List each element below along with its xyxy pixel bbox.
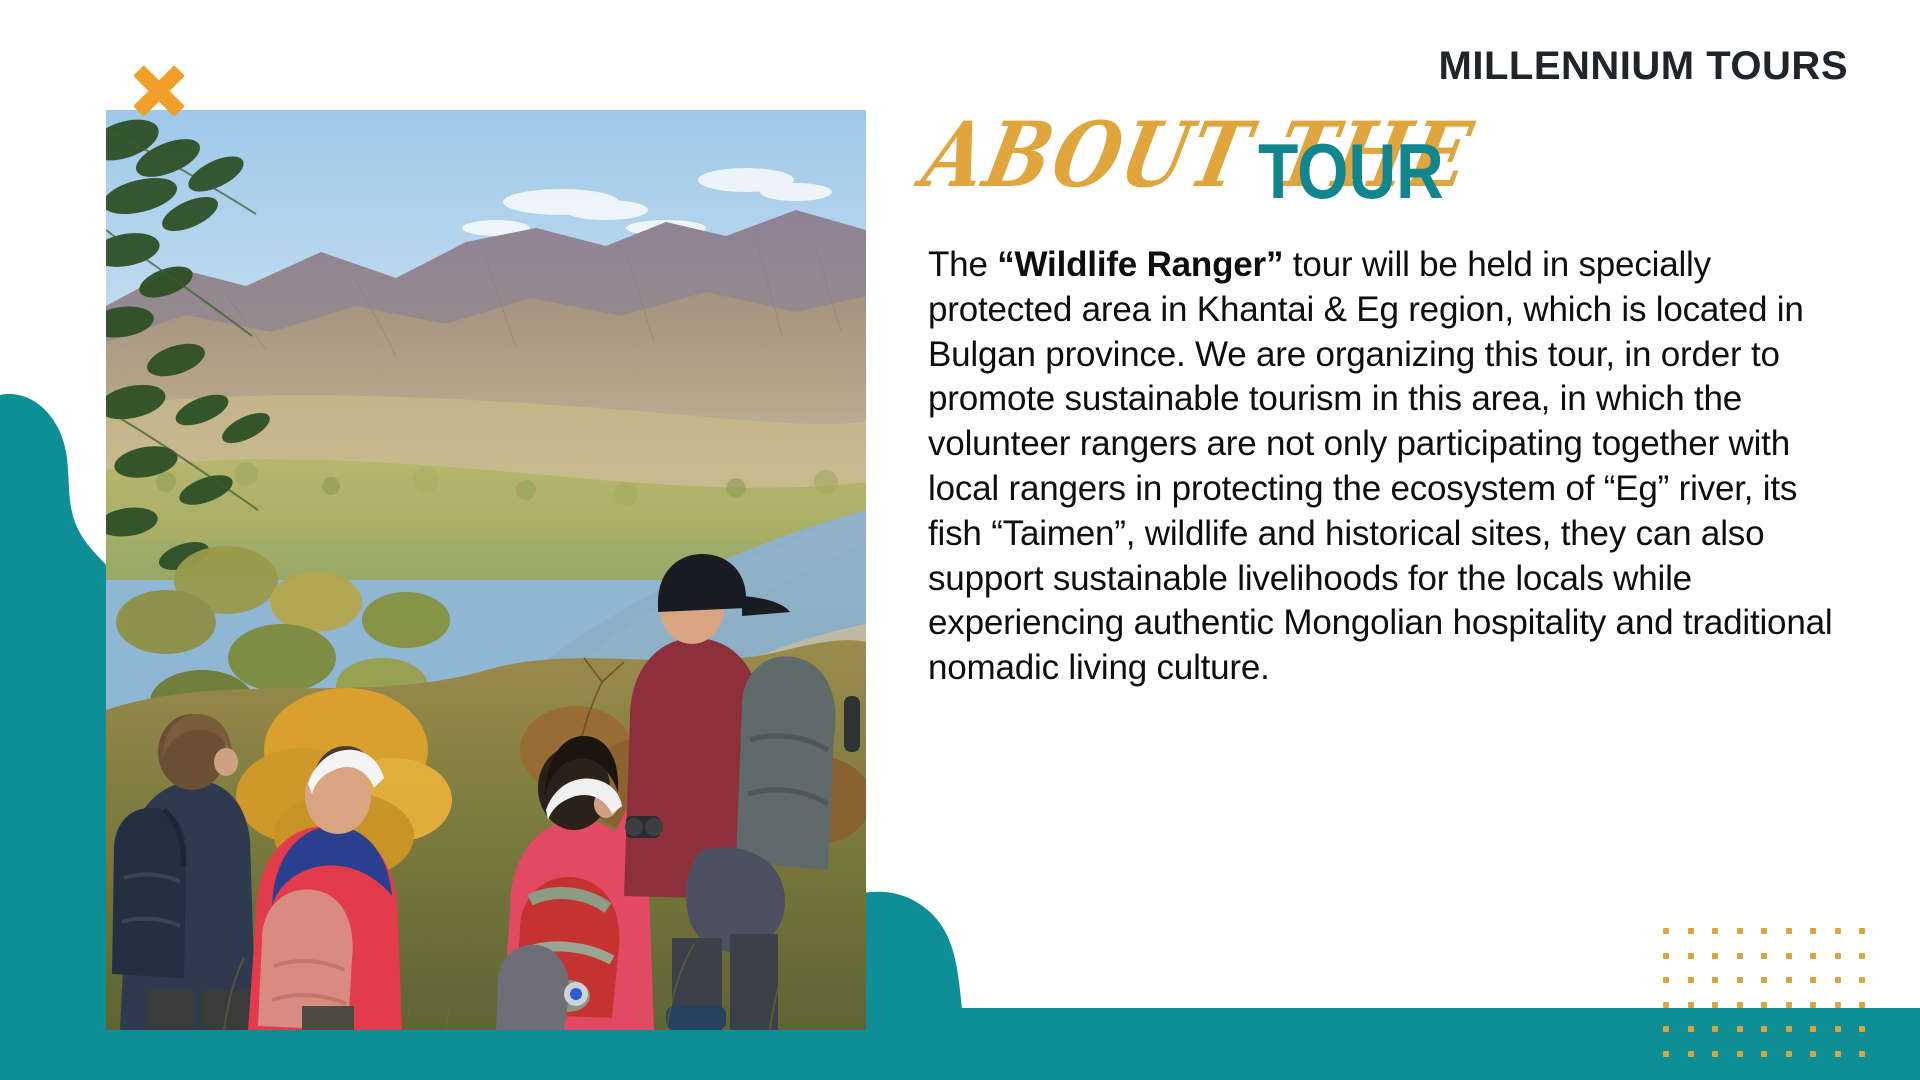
dot [1712, 977, 1718, 983]
dot [1810, 1026, 1816, 1032]
x-marker-icon [128, 60, 190, 122]
dot [1835, 928, 1841, 934]
dot [1810, 1051, 1816, 1057]
dot [1688, 953, 1694, 959]
dot [1835, 953, 1841, 959]
dot [1835, 1051, 1841, 1057]
description-rest: tour will be held in specially protected… [928, 245, 1832, 687]
dot [1761, 1002, 1767, 1008]
dot [1737, 953, 1743, 959]
dot [1761, 1026, 1767, 1032]
dot [1761, 928, 1767, 934]
dot [1859, 1051, 1865, 1057]
dot [1810, 1002, 1816, 1008]
dot [1761, 953, 1767, 959]
dot [1859, 1026, 1865, 1032]
dot [1810, 977, 1816, 983]
dot [1859, 928, 1865, 934]
dot [1712, 953, 1718, 959]
dot [1688, 1002, 1694, 1008]
dot [1859, 1002, 1865, 1008]
dot [1737, 1002, 1743, 1008]
dot [1737, 977, 1743, 983]
dot [1663, 953, 1669, 959]
dot [1835, 1002, 1841, 1008]
dot [1786, 928, 1792, 934]
slide-root: MILLENNIUM TOURS ABOUT THE TOUR The “Wil… [0, 0, 1920, 1080]
dot [1688, 977, 1694, 983]
dot [1663, 1002, 1669, 1008]
dot [1688, 1026, 1694, 1032]
dot [1786, 1026, 1792, 1032]
dot [1835, 977, 1841, 983]
dot [1786, 953, 1792, 959]
dot [1688, 1051, 1694, 1057]
tour-photo-image [106, 110, 866, 1030]
section-heading: ABOUT THE TOUR [928, 112, 1920, 208]
dot [1761, 977, 1767, 983]
dot [1859, 953, 1865, 959]
tour-photo [106, 110, 866, 1030]
dot [1712, 1026, 1718, 1032]
description-highlight: “Wildlife Ranger” [997, 245, 1283, 284]
dot [1737, 928, 1743, 934]
dot [1786, 1002, 1792, 1008]
dot [1712, 1002, 1718, 1008]
content-column: MILLENNIUM TOURS ABOUT THE TOUR The “Wil… [928, 0, 1920, 1080]
dot [1663, 928, 1669, 934]
dot [1663, 1051, 1669, 1057]
tour-description: The “Wildlife Ranger” tour will be held … [928, 243, 1858, 691]
dot [1663, 977, 1669, 983]
heading-bold-text: TOUR [1258, 126, 1444, 216]
dot-grid-decoration [1663, 928, 1884, 1075]
dot [1786, 1051, 1792, 1057]
dot [1761, 1051, 1767, 1057]
dot [1835, 1026, 1841, 1032]
dot [1786, 977, 1792, 983]
dot [1859, 977, 1865, 983]
dot [1712, 1051, 1718, 1057]
dot [1737, 1051, 1743, 1057]
dot [1663, 1026, 1669, 1032]
dot [1737, 1026, 1743, 1032]
dot [1712, 928, 1718, 934]
dot [1810, 928, 1816, 934]
dot [1688, 928, 1694, 934]
dot [1810, 953, 1816, 959]
brand-title: MILLENNIUM TOURS [1439, 44, 1848, 89]
description-lead: The [928, 245, 997, 284]
